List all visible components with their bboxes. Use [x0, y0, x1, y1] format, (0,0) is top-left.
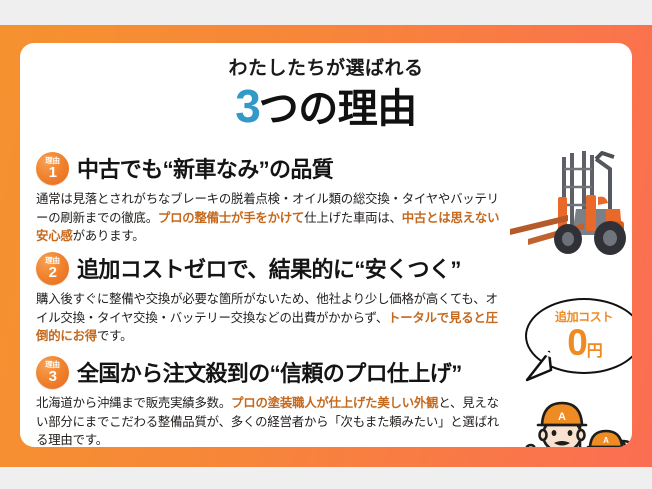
highlighted-text: プロの塗装職人が仕上げた美しい外観	[231, 396, 438, 410]
speech-bubble-content: 追加コスト 0円	[525, 298, 632, 374]
header: わたしたちが選ばれる 3つの理由	[20, 43, 632, 130]
reason-body-1: 通常は見落とされがちなブレーキの脱着点検・オイル類の総交換・タイヤやバッテリーの…	[36, 190, 506, 246]
reason-badge-number: 3	[49, 369, 57, 384]
highlighted-text: プロの整備士が手をかけて	[158, 211, 304, 225]
speech-bubble-unit: 円	[587, 344, 601, 360]
reason-body-2: 購入後すぐに整備や交換が必要な箇所がないため、他社より少し価格が高くても、オイル…	[36, 290, 506, 346]
reason-body-3: 北海道から沖縄まで販売実績多数。プロの塗装職人が仕上げた美しい外観と、見えない部…	[36, 394, 506, 447]
reason-badge-1: 理由 1	[36, 152, 69, 185]
body-text: 北海道から沖縄まで販売実績多数。	[36, 396, 231, 410]
reason-title-1: 中古でも“新車なみ”の品質	[77, 152, 333, 184]
reason-block-1: 理由 1 中古でも“新車なみ”の品質 通常は見落とされがちなブレーキの脱着点検・…	[36, 151, 506, 246]
svg-text:A: A	[603, 436, 609, 445]
reason-1-head: 理由 1 中古でも“新車なみ”の品質	[36, 151, 506, 185]
svg-text:A: A	[558, 411, 566, 423]
reason-badge-2: 理由 2	[36, 252, 69, 285]
promo-banner: わたしたちが選ばれる 3つの理由 理由 1 中古でも“新車なみ”の品質 通常は見…	[0, 25, 652, 467]
reason-2-head: 理由 2 追加コストゼロで、結果的に“安くつく”	[36, 251, 506, 285]
content-card: わたしたちが選ばれる 3つの理由 理由 1 中古でも“新車なみ”の品質 通常は見…	[20, 43, 632, 447]
body-text: です。	[97, 329, 132, 343]
header-number: 3	[235, 80, 259, 132]
reason-badge-label: 理由	[45, 257, 59, 265]
forklift-photo	[510, 135, 632, 265]
body-text: 仕上げた車両は、	[304, 211, 402, 225]
reason-3-head: 理由 3 全国から注文殺到の“信頼のプロ仕上げ”	[36, 355, 506, 389]
reason-badge-3: 理由 3	[36, 356, 69, 389]
body-text: があります。	[73, 229, 145, 243]
speech-bubble-zero-cost: 追加コスト 0円	[525, 298, 632, 374]
reason-title-2: 追加コストゼロで、結果的に“安くつく”	[77, 252, 461, 284]
mascot-illustration: A	[518, 383, 632, 447]
page-title: 3つの理由	[20, 82, 632, 130]
speech-bubble-amount-row: 0円	[567, 324, 601, 361]
header-title-rest: つの理由	[259, 87, 417, 131]
reason-block-2: 理由 2 追加コストゼロで、結果的に“安くつく” 購入後すぐに整備や交換が必要な…	[36, 251, 506, 346]
speech-bubble-amount: 0	[567, 324, 586, 361]
reason-title-3: 全国から注文殺到の“信頼のプロ仕上げ”	[77, 356, 462, 388]
reason-badge-number: 2	[49, 265, 57, 280]
reason-block-3: 理由 3 全国から注文殺到の“信頼のプロ仕上げ” 北海道から沖縄まで販売実績多数…	[36, 355, 506, 447]
header-kicker: わたしたちが選ばれる	[20, 59, 632, 80]
reason-badge-label: 理由	[45, 157, 59, 165]
reason-badge-number: 1	[49, 165, 57, 180]
reason-badge-label: 理由	[45, 361, 59, 369]
